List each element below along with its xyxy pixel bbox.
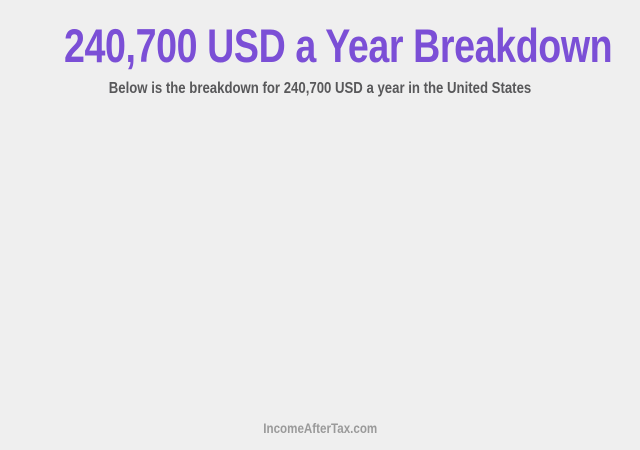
page-footer: IncomeAfterTax.com — [0, 420, 640, 438]
site-watermark: IncomeAfterTax.com — [263, 420, 377, 438]
chart-region — [0, 118, 640, 410]
page-title: 240,700 USD a Year Breakdown — [64, 20, 576, 72]
page-root: 240,700 USD a Year Breakdown Below is th… — [0, 0, 640, 450]
page-subtitle: Below is the breakdown for 240,700 USD a… — [48, 79, 592, 99]
page-header: 240,700 USD a Year Breakdown Below is th… — [0, 0, 640, 99]
